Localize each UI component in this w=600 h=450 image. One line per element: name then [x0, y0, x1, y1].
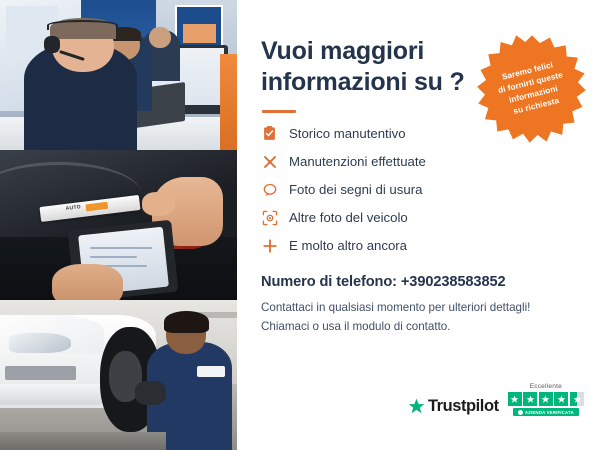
- trustpilot-rating-group: Eccellente AZIENDA VERIFICATA: [508, 383, 584, 416]
- list-item: E molto altro ancora: [261, 237, 578, 254]
- list-item: Foto dei segni di usura: [261, 181, 578, 198]
- trustpilot-star-icon: [408, 398, 425, 415]
- photo-vehicle-inspection: [0, 150, 237, 300]
- star-half: [570, 392, 584, 406]
- verified-label: AZIENDA VERIFICATA: [525, 410, 574, 415]
- title-divider: [262, 110, 296, 113]
- contact-line-1: Contattaci in qualsiasi momento per ulte…: [261, 299, 578, 318]
- content-panel: Vuoi maggiori informazioni su ? Saremo f…: [237, 0, 600, 450]
- list-item: Manutenzioni effettuate: [261, 153, 578, 170]
- verified-company-badge: AZIENDA VERIFICATA: [513, 408, 579, 416]
- tools-cross-icon: [261, 153, 278, 170]
- plus-icon: [261, 237, 278, 254]
- star-filled: [554, 392, 568, 406]
- star-filled: [539, 392, 553, 406]
- photo-wheel-service: [0, 300, 237, 450]
- clipboard-check-icon: [261, 125, 278, 142]
- feature-label: Foto dei segni di usura: [289, 182, 422, 197]
- verified-check-icon: [518, 410, 523, 415]
- list-item: Altre foto del veicolo: [261, 209, 578, 226]
- star-rating: [508, 392, 584, 406]
- trustpilot-wordmark: Trustpilot: [428, 397, 499, 416]
- feature-label: Altre foto del veicolo: [289, 210, 408, 225]
- advert-container: Vuoi maggiori informazioni su ? Saremo f…: [0, 0, 600, 450]
- star-filled: [508, 392, 522, 406]
- contact-line-2: Chiamaci o usa il modulo di contatto.: [261, 318, 578, 337]
- page-title: Vuoi maggiori informazioni su ?: [261, 36, 476, 97]
- photo-scan-icon: [261, 209, 278, 226]
- photo-call-center: [0, 0, 237, 150]
- contact-text: Contattaci in qualsiasi momento per ulte…: [261, 299, 578, 336]
- trustpilot-logo: Trustpilot: [408, 397, 499, 416]
- feature-label: Storico manutentivo: [289, 126, 406, 141]
- feature-label: E molto altro ancora: [289, 238, 407, 253]
- star-filled: [523, 392, 537, 406]
- photo-column: [0, 0, 237, 450]
- info-badge: Saremo felici di fornirti queste informa…: [476, 33, 588, 145]
- feature-label: Manutenzioni effettuate: [289, 154, 426, 169]
- speech-bubble-icon: [261, 181, 278, 198]
- trustpilot-badge[interactable]: Trustpilot Eccellente AZIENDA VERIFICATA: [408, 383, 584, 416]
- rating-label: Eccellente: [530, 383, 562, 390]
- headset-icon: [464, 43, 488, 65]
- phone-number[interactable]: Numero di telefono: +390238583852: [261, 274, 578, 290]
